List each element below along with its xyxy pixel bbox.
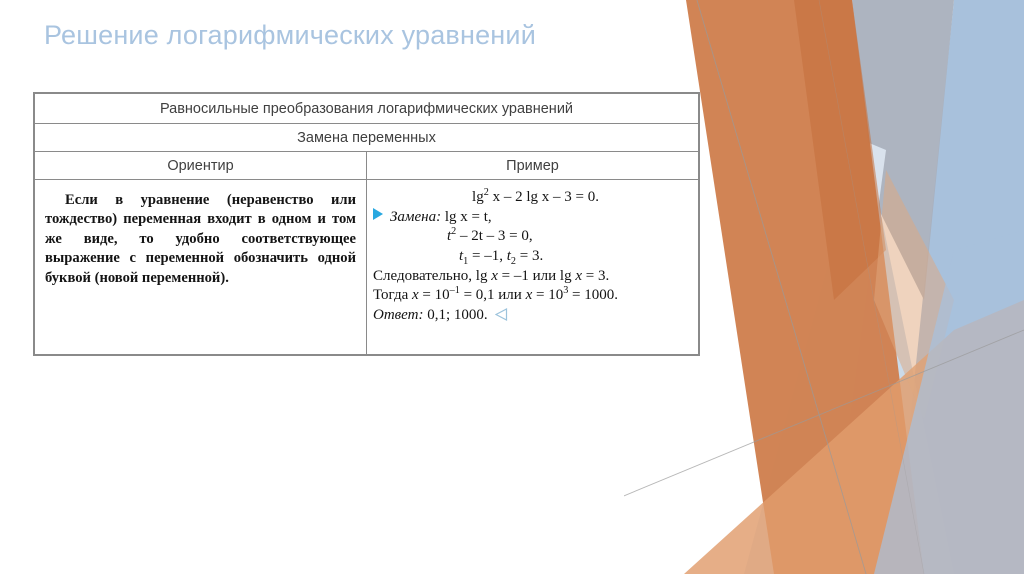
deco-grayblue-wedge [852, 0, 954, 300]
example-solution: lg2 x – 2 lg x – 3 = 0. Замена: lg x = t… [373, 188, 690, 325]
then-prefix: Тогда [373, 287, 412, 303]
example-line-roots: t1 = –1, t2 = 3. [373, 247, 690, 267]
t1-value: = –1, [468, 248, 506, 264]
therefore-end: = 3. [582, 268, 609, 284]
quadratic-rest: – 2t – 3 = 0, [456, 228, 532, 244]
then-d: = 1000. [568, 287, 618, 303]
deco-hairline-1 [694, 0, 869, 574]
example-cell: lg2 x – 2 lg x – 3 = 0. Замена: lg x = t… [367, 180, 699, 355]
table-header-sub: Замена переменных [35, 124, 699, 152]
then-c: = 10 [532, 287, 563, 303]
table-column-header-guideline: Ориентир [35, 152, 367, 180]
t2-value: = 3. [516, 248, 543, 264]
then-a: = 10 [419, 287, 450, 303]
answer-label: Ответ: [373, 307, 423, 323]
table-row-column-headers: Ориентир Пример [35, 152, 699, 180]
power-neg-one: –1 [450, 285, 460, 296]
lg-token: lg [472, 189, 484, 205]
x-variable-2: x [575, 268, 582, 284]
then-b: = 0,1 или [460, 287, 526, 303]
deco-light-blue-sliver [744, 140, 886, 574]
x-variable-3: x [412, 287, 419, 303]
deco-pale-blue-triangle [774, 180, 954, 574]
slide-canvas: Решение логарифмических уравнений Равнос… [0, 0, 1024, 574]
substitution-expr: lg x = t, [441, 209, 492, 225]
triangle-left-outline-icon [495, 308, 508, 321]
equation-rest: x – 2 lg x – 3 = 0. [489, 189, 599, 205]
deco-orange-light-wedge [874, 170, 954, 420]
equivalent-transformations-table: Равносильные преобразования логарифмичес… [33, 92, 700, 356]
substitution-text: Замена: lg x = t, [390, 208, 492, 228]
x-variable-1: x [491, 268, 498, 284]
therefore-middle: = –1 или lg [498, 268, 575, 284]
table-row-header-sub: Замена переменных [35, 124, 699, 152]
deco-blue-overlay-bottom [874, 230, 1024, 574]
table-column-header-example: Пример [367, 152, 699, 180]
example-line-answer: Ответ: 0,1; 1000. [373, 306, 690, 326]
answer-value: 0,1; 1000. [423, 307, 487, 323]
guideline-text: Если в уравнение (неравенство или тождес… [45, 191, 356, 288]
triangle-right-icon [373, 208, 383, 220]
deco-orange-band-main [686, 0, 924, 574]
therefore-prefix: Следовательно, lg [373, 268, 491, 284]
guideline-cell: Если в уравнение (неравенство или тождес… [35, 180, 367, 355]
deco-hairline-3 [819, 0, 924, 574]
example-line-quadratic: t2 – 2t – 3 = 0, [373, 227, 690, 247]
table-header-main: Равносильные преобразования логарифмичес… [35, 94, 699, 124]
page-title: Решение логарифмических уравнений [44, 20, 536, 51]
table-row-header-main: Равносильные преобразования логарифмичес… [35, 94, 699, 124]
example-line-equation: lg2 x – 2 lg x – 3 = 0. [373, 188, 690, 208]
example-line-then: Тогда x = 10–1 = 0,1 или x = 103 = 1000. [373, 286, 690, 306]
table-row-body: Если в уравнение (неравенство или тождес… [35, 180, 699, 355]
deco-blue-slab-right [894, 0, 1024, 574]
substitution-label: Замена: [390, 209, 441, 225]
deco-orange-dark-overlap [794, 0, 886, 300]
example-line-substitution: Замена: lg x = t, [373, 208, 690, 228]
example-line-therefore: Следовательно, lg x = –1 или lg x = 3. [373, 267, 690, 287]
